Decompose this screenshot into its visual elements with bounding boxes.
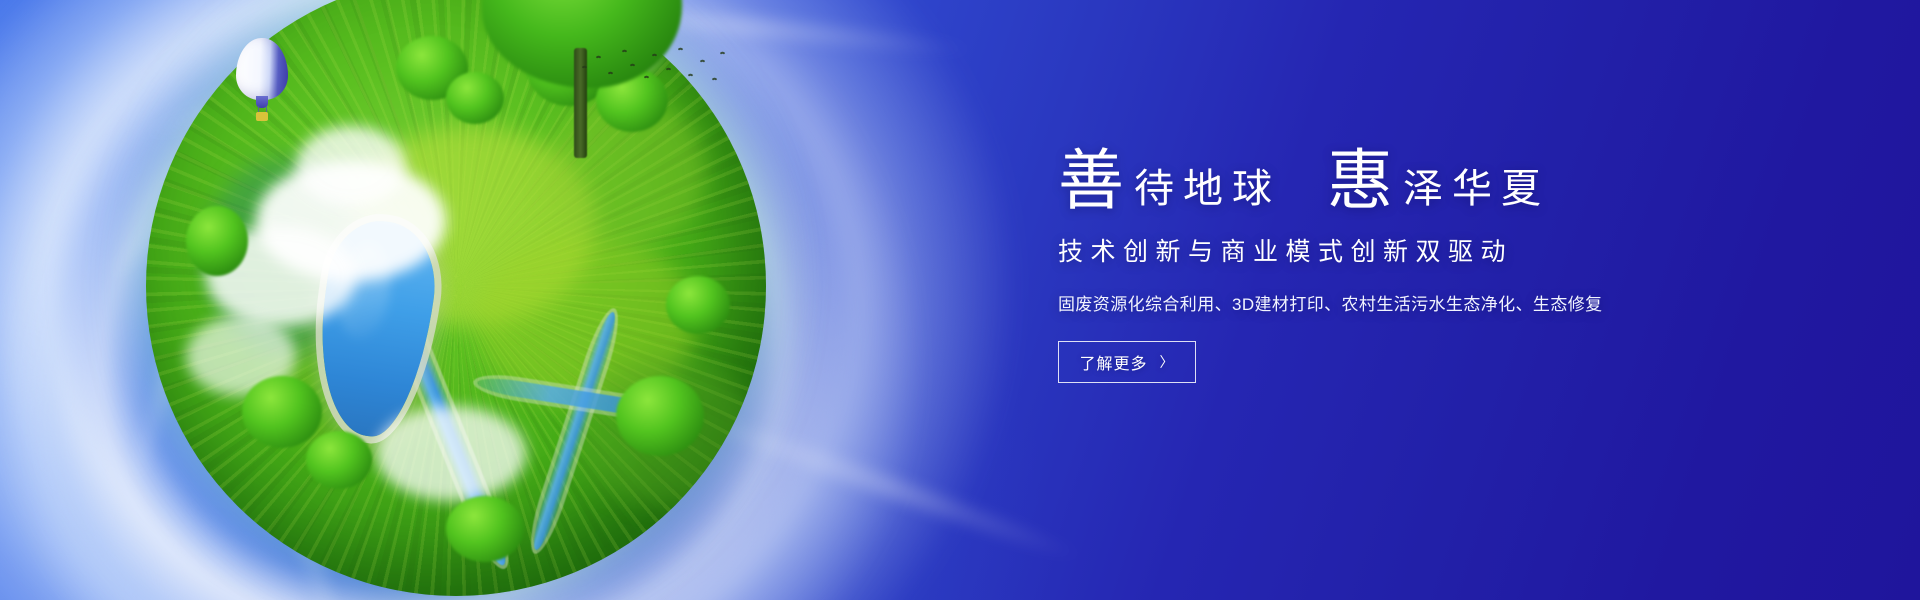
headline: 善 待地球 惠 泽华夏 [1058,128,1758,214]
headline-lead-1: 善 [1058,148,1126,214]
tree-icon [616,376,704,456]
tree-icon [242,376,322,448]
balloon-basket [256,112,268,121]
chevron-right-icon: 〉 [1160,355,1175,369]
headline-tail-1: 待地球 [1134,169,1281,214]
bird-flock-icon [578,44,728,104]
hot-air-balloon-icon [236,38,288,130]
tree-icon [306,431,372,489]
balloon-envelope [236,38,288,100]
tree-icon [186,206,248,276]
learn-more-button[interactable]: 了解更多 〉 [1058,341,1196,383]
hero-banner: 善 待地球 惠 泽华夏 技术创新与商业模式创新双驱动 固废资源化综合利用、3D建… [0,0,1920,600]
tree-icon [446,496,524,562]
headline-tail-2: 泽华夏 [1403,169,1550,214]
hero-description: 固废资源化综合利用、3D建材打印、农村生活污水生态净化、生态修复 [1058,290,1758,315]
planet-cloud [296,126,406,206]
learn-more-label: 了解更多 [1079,350,1147,374]
tree-icon [666,276,730,334]
hero-subtitle: 技术创新与商业模式创新双驱动 [1058,232,1758,268]
planet-cloud [376,406,526,501]
hero-copy: 善 待地球 惠 泽华夏 技术创新与商业模式创新双驱动 固废资源化综合利用、3D建… [1058,128,1758,383]
headline-lead-2: 惠 [1327,148,1395,214]
